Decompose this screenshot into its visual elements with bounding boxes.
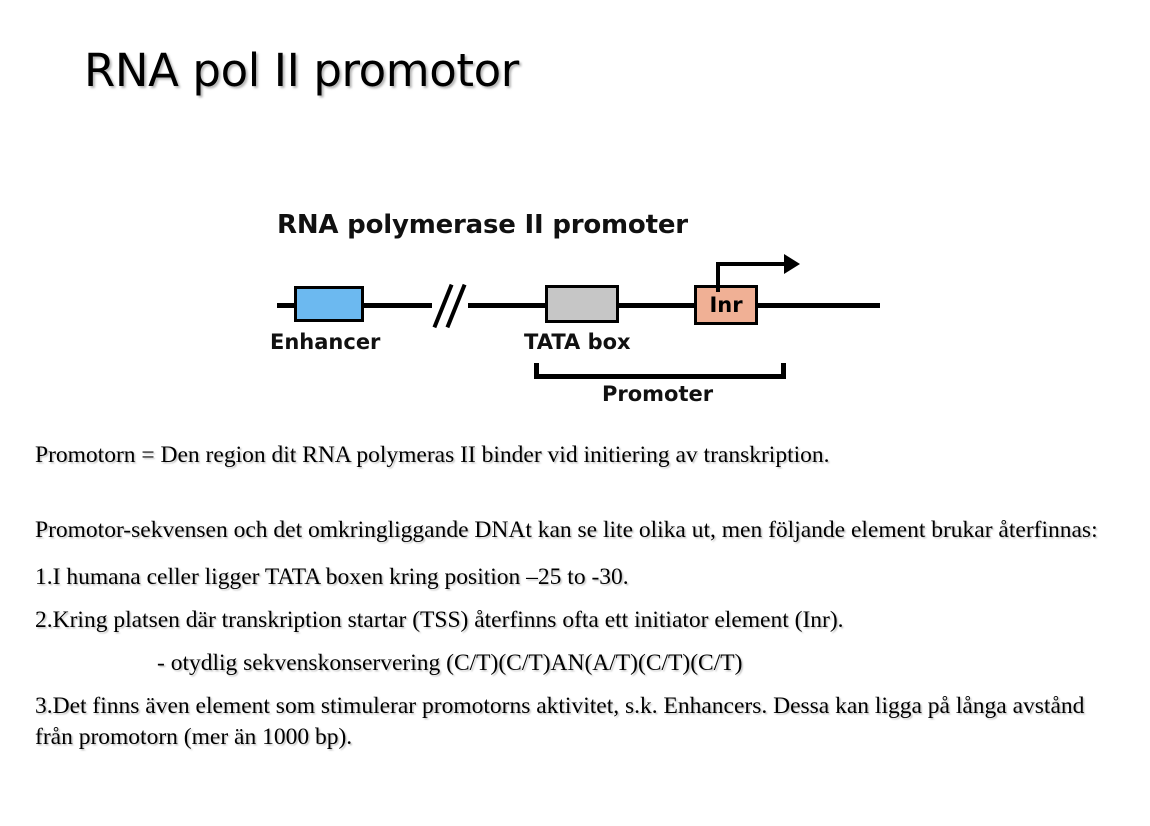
slide-body: Promotorn = Den region dit RNA polymeras… <box>35 440 1120 753</box>
enhancer-box <box>294 286 364 322</box>
promoter-bracket <box>534 363 786 379</box>
tata-box-label: TATA box <box>524 330 631 354</box>
tata-box <box>545 285 619 323</box>
diagram-title: RNA polymerase II promoter <box>277 210 688 240</box>
dna-backbone-line <box>277 303 880 308</box>
list-item-2-sub: - otydlig sekvenskonservering (C/T)(C/T)… <box>35 648 1120 679</box>
list-item-1: 1.I humana celler ligger TATA boxen krin… <box>35 562 1120 593</box>
list-item-3: 3.Det finns även element som stimulerar … <box>35 691 1120 753</box>
inr-box: Inr <box>694 285 758 325</box>
dna-break-slashes-icon <box>432 283 468 329</box>
inr-box-label: Inr <box>709 295 742 316</box>
list-item-2: 2.Kring platsen där transkription starta… <box>35 605 1120 636</box>
paragraph-definition: Promotorn = Den region dit RNA polymeras… <box>35 440 1120 471</box>
paragraph-intro: Promotor-sekvensen och det omkringliggan… <box>35 515 1120 546</box>
enhancer-label: Enhancer <box>270 330 380 354</box>
page-title: RNA pol II promotor <box>84 44 519 97</box>
promoter-bracket-label: Promoter <box>602 382 713 406</box>
